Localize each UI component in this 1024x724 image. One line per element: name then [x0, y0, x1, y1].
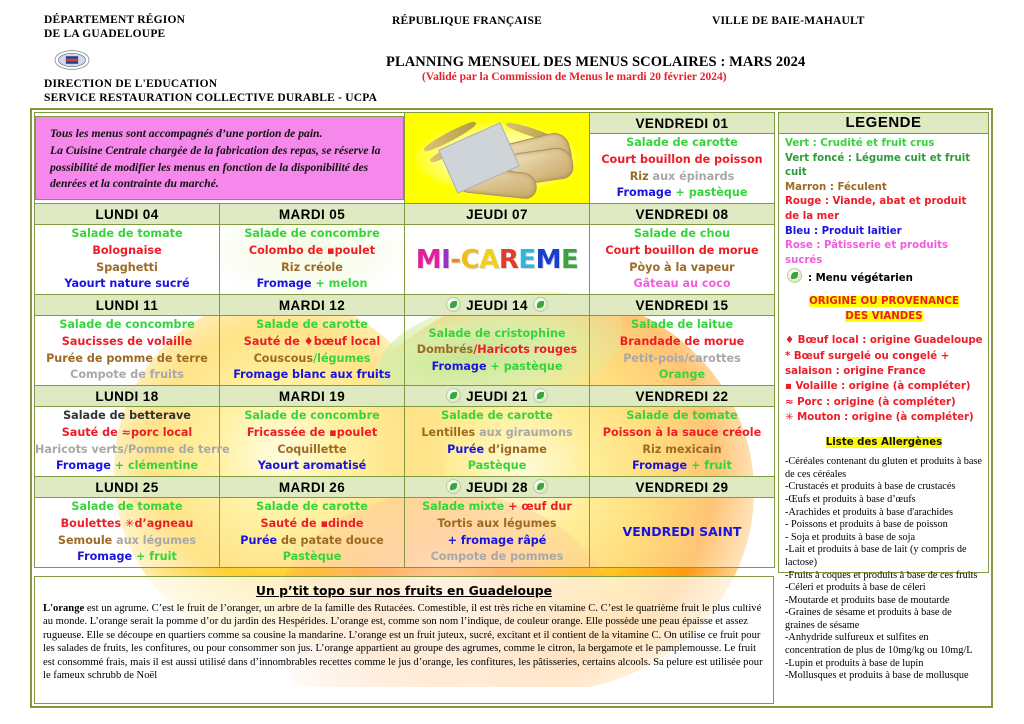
legend-row-label: Rose : Pâtisserie et produits sucrés	[785, 240, 948, 266]
menu-item: Purée de pomme de terre	[35, 351, 219, 368]
menu-item: Salade de carotte	[590, 135, 774, 152]
menu-item: Boulettes ✳d’agneau	[35, 516, 219, 533]
legend-row-label: Vert foncé : Légume cuit et fruit cuit	[785, 153, 970, 179]
meat-origin-row: ▪ Volaille : origine (à compléter)	[785, 379, 983, 394]
menu-cell-lundi-18: Salade de betteraveSauté de ≈porc localH…	[35, 407, 220, 477]
menu-item: Salade de cristophine	[405, 326, 589, 343]
menu-item: Brandade de morue	[590, 334, 774, 351]
day-header-mardi-05: MARDI 05	[220, 204, 405, 225]
allergen-row: - Soja et produits à base de soja	[785, 532, 983, 545]
header-direction-block: DIRECTION DE L'EDUCATION SERVICE RESTAUR…	[44, 78, 377, 105]
menu-cell-lundi-04: Salade de tomateBolognaiseSpaghettiYaour…	[35, 225, 220, 295]
mi-careme-letter: M	[416, 245, 441, 275]
vegetarian-icon	[533, 388, 548, 403]
header-city: VILLE DE BAIE-MAHAULT	[712, 15, 865, 27]
vendredi-saint-label: VENDREDI SAINT	[590, 524, 774, 541]
vegetarian-icon	[533, 297, 548, 312]
mi-careme-letter: R	[499, 245, 519, 275]
menu-item: Compote de pommes	[405, 549, 589, 566]
menu-item: Riz mexicain	[590, 442, 774, 459]
allergens-list: -Céréales contenant du gluten et produit…	[785, 456, 983, 683]
mi-careme-banner: MI-CAREME	[405, 245, 589, 275]
menu-item: Sauté de ♦bœuf local	[220, 334, 404, 351]
topo-body: L'orange est un agrume. C’est le fruit d…	[35, 598, 773, 682]
topo-text: est un agrume. C’est le fruit de l’orang…	[43, 603, 763, 681]
menu-item: Saucisses de volaille	[35, 334, 219, 351]
menu-item: Salade de betterave	[35, 408, 219, 425]
allergen-row: - Poissons et produits à base de poisson	[785, 519, 983, 532]
vegetarian-icon	[446, 479, 461, 494]
topo-panel: Un p’tit topo sur nos fruits en Guadelou…	[34, 576, 774, 704]
menu-cell-jeudi-14: Salade de cristophineDombrés/Haricots ro…	[405, 316, 590, 386]
allergen-row: -Fruits à coques et produits à base de c…	[785, 570, 983, 583]
menu-item: Fromage blanc aux fruits	[220, 367, 404, 384]
day-header-jeudi-07: JEUDI 07	[405, 204, 590, 225]
allergen-row: -Mollusques et produits à base de mollus…	[785, 670, 983, 683]
allergen-row: -Œufs et produits à base d’œufs	[785, 494, 983, 507]
menu-item: Fricassée de ▪poulet	[220, 425, 404, 442]
page-title: PLANNING MENSUEL DES MENUS SCOLAIRES : M…	[386, 54, 805, 71]
mi-careme-letter: C	[461, 245, 480, 275]
menu-item: Purée de patate douce	[220, 533, 404, 550]
menu-item: Salade de tomate	[35, 499, 219, 516]
menu-item: Spaghetti	[35, 260, 219, 277]
menu-cell-jeudi-28: Salade mixte + œuf durTortis aux légumes…	[405, 498, 590, 568]
menu-item: + fromage râpé	[405, 533, 589, 550]
meat-origin-row: ≈ Porc : origine (à compléter)	[785, 395, 983, 410]
mi-careme-letter: I	[441, 245, 450, 275]
menu-item: Salade de concombre	[35, 317, 219, 334]
day-header-vendredi-22: VENDREDI 22	[590, 386, 775, 407]
menu-item: Colombo de ▪poulet	[220, 243, 404, 260]
allergen-row: -Moutarde et produits base de moutarde	[785, 595, 983, 608]
legend-row-label: Rouge : Viande, abat et produit de la me…	[785, 196, 966, 222]
day-header-lundi-18: LUNDI 18	[35, 386, 220, 407]
menu-item: Coquillette	[220, 442, 404, 459]
header-republic: RÉPUBLIQUE FRANÇAISE	[392, 15, 542, 27]
guadeloupe-logo-icon	[54, 50, 90, 70]
mi-careme-letter: -	[450, 245, 460, 275]
menu-cell-mardi-26: Salade de carotteSauté de ▪dindePurée de…	[220, 498, 405, 568]
menu-cell-jeudi-07: MI-CAREME	[405, 225, 590, 295]
menu-item: Fromage + pastèque	[590, 185, 774, 202]
vegetarian-icon	[446, 297, 461, 312]
menu-item: Sauté de ▪dinde	[220, 516, 404, 533]
menu-item: Fromage + fruit	[590, 458, 774, 475]
allergen-row: -Arachides et produits à base d'arachide…	[785, 507, 983, 520]
meat-origin-title-line2: DES VIANDES	[845, 311, 922, 322]
header-department-line1: DÉPARTEMENT RÉGION	[44, 14, 185, 28]
menu-item: Fromage + fruit	[35, 549, 219, 566]
menu-cell-lundi-25: Salade de tomateBoulettes ✳d’agneauSemou…	[35, 498, 220, 568]
menu-item: Purée d’igname	[405, 442, 589, 459]
menu-cell-vendredi-08: Salade de chouCourt bouillon de moruePòy…	[590, 225, 775, 295]
menu-item: Pastèque	[220, 549, 404, 566]
day-header-jeudi-28: JEUDI 28	[405, 477, 590, 498]
meat-origin-title: ORIGINE OU PROVENANCE DES VIANDES	[785, 295, 983, 324]
meat-origin-title-line1: ORIGINE OU PROVENANCE	[809, 296, 959, 307]
menu-item: Sauté de ≈porc local	[35, 425, 219, 442]
legend-row-label: Vert : Crudité et fruit crus	[785, 138, 934, 149]
info-box-line: possibilité de modifier les menus en fon…	[50, 160, 391, 177]
day-header-jeudi-14: JEUDI 14	[405, 295, 590, 316]
menu-item: Riz aux épinards	[590, 169, 774, 186]
menu-cell-jeudi-21: Salade de carotteLentilles aux giraumons…	[405, 407, 590, 477]
legend-row: : Menu végétarien	[785, 268, 983, 287]
menu-item: Compote de fruits	[35, 367, 219, 384]
menu-item: Court bouillon de poisson	[590, 152, 774, 169]
menu-item: Salade de concombre	[220, 408, 404, 425]
menu-item: Tortis aux légumes	[405, 516, 589, 533]
menu-item: Pastèque	[405, 458, 589, 475]
legend-row: Marron : Féculent	[785, 181, 983, 196]
menu-cell-vendredi-15: Salade de laitueBrandade de moruePetit-p…	[590, 316, 775, 386]
menu-cell-lundi-11: Salade de concombreSaucisses de volaille…	[35, 316, 220, 386]
menu-item: Fromage + pastèque	[405, 359, 589, 376]
allergen-row: -Lupin et produits à base de lupin	[785, 658, 983, 671]
day-label: JEUDI 21	[466, 389, 528, 404]
legend-body: Vert : Crudité et fruit crusVert foncé :…	[779, 134, 988, 683]
allergen-row: -Lait et produits à base de lait (y comp…	[785, 544, 983, 569]
day-header-jeudi-21: JEUDI 21	[405, 386, 590, 407]
meat-origin-row: ♦ Bœuf local : origine Guadeloupe	[785, 333, 983, 348]
menu-cell-vendredi-01: Salade de carotteCourt bouillon de poiss…	[590, 134, 775, 204]
vegetarian-icon	[787, 268, 802, 283]
legend-row: Bleu : Produit laitier	[785, 225, 983, 240]
menu-item: Poisson à la sauce créole	[590, 425, 774, 442]
allergens-title: Liste des Allergènes	[826, 437, 942, 448]
header-direction-line2: SERVICE RESTAURATION COLLECTIVE DURABLE …	[44, 92, 377, 106]
day-label: JEUDI 28	[466, 480, 528, 495]
topo-lead: L'orange	[43, 603, 84, 614]
menu-item: Salade mixte + œuf dur	[405, 499, 589, 516]
header-left-block: DÉPARTEMENT RÉGION DE LA GUADELOUPE	[44, 14, 185, 41]
day-header-vendredi-08: VENDREDI 08	[590, 204, 775, 225]
day-header-mardi-19: MARDI 19	[220, 386, 405, 407]
meat-origin-row: ✳ Mouton : origine (à compléter)	[785, 410, 983, 425]
menu-item: Salade de laitue	[590, 317, 774, 334]
menu-item: Salade de tomate	[35, 226, 219, 243]
allergen-row: -Céleri et produits à base de céleri	[785, 582, 983, 595]
menu-item: Fromage + melon	[220, 276, 404, 293]
allergen-row: -Anhydride sulfureux et sulfites en conc…	[785, 632, 983, 657]
allergens-title-wrap: Liste des Allergènes	[785, 436, 983, 451]
menu-cell-mardi-19: Salade de concombreFricassée de ▪pouletC…	[220, 407, 405, 477]
menu-cell-mardi-05: Salade de concombreColombo de ▪pouletRiz…	[220, 225, 405, 295]
bread-image	[405, 113, 590, 204]
menu-item: Petit-pois/carottes	[590, 351, 774, 368]
document-header: DÉPARTEMENT RÉGION DE LA GUADELOUPE RÉPU…	[0, 0, 1024, 104]
vegetarian-icon	[533, 479, 548, 494]
menu-item: Yaourt nature sucré	[35, 276, 219, 293]
menu-item: Salade de concombre	[220, 226, 404, 243]
mi-careme-letter: M	[536, 245, 561, 275]
vegetarian-icon	[446, 388, 461, 403]
menu-grid-area: Tous les menus sont accompagnés d’une po…	[34, 112, 774, 572]
legend-panel: LEGENDE Vert : Crudité et fruit crusVert…	[778, 112, 989, 573]
day-header-lundi-11: LUNDI 11	[35, 295, 220, 316]
day-header-mardi-26: MARDI 26	[220, 477, 405, 498]
menu-item: Gâteau au coco	[590, 276, 774, 293]
menu-item: Court bouillon de morue	[590, 243, 774, 260]
menu-table: Tous les menus sont accompagnés d’une po…	[34, 112, 775, 568]
mi-careme-letter: E	[561, 245, 578, 275]
menu-cell-mardi-12: Salade de carotteSauté de ♦bœuf localCou…	[220, 316, 405, 386]
mi-careme-letter: E	[518, 245, 535, 275]
info-box-line: Tous les menus sont accompagnés d’une po…	[50, 126, 391, 143]
menu-item: Salade de carotte	[405, 408, 589, 425]
day-label: JEUDI 14	[466, 298, 528, 313]
menu-item: Pòyo à la vapeur	[590, 260, 774, 277]
legend-row: Vert : Crudité et fruit crus	[785, 137, 983, 152]
allergen-row: -Crustacés et produits à base de crustac…	[785, 481, 983, 494]
mi-careme-letter: A	[479, 245, 499, 275]
menu-item: Salade de tomate	[590, 408, 774, 425]
menu-item: Lentilles aux giraumons	[405, 425, 589, 442]
info-box-line: La Cuisine Centrale chargée de la fabric…	[50, 143, 391, 160]
day-header-mardi-12: MARDI 12	[220, 295, 405, 316]
menu-cell-vendredi-22: Salade de tomatePoisson à la sauce créol…	[590, 407, 775, 477]
legend-row: Vert foncé : Légume cuit et fruit cuit	[785, 152, 983, 181]
day-header-vendredi-15: VENDREDI 15	[590, 295, 775, 316]
allergen-row: -Céréales contenant du gluten et produit…	[785, 456, 983, 481]
meat-origin-list: ♦ Bœuf local : origine Guadeloupe* Bœuf …	[785, 333, 983, 425]
menu-item: Semoule aux légumes	[35, 533, 219, 550]
menu-item: Orange	[590, 367, 774, 384]
menu-item: Fromage + clémentine	[35, 458, 219, 475]
menu-item: Bolognaise	[35, 243, 219, 260]
menu-item: Dombrés/Haricots rouges	[405, 342, 589, 359]
menu-item: Yaourt aromatisé	[220, 458, 404, 475]
day-header-lundi-25: LUNDI 25	[35, 477, 220, 498]
page-subtitle: (Validé par la Commission de Menus le ma…	[422, 71, 727, 83]
legend-row: Rouge : Viande, abat et produit de la me…	[785, 195, 983, 224]
menu-item: Couscous/légumes	[220, 351, 404, 368]
menu-item: Salade de carotte	[220, 317, 404, 334]
header-direction-line1: DIRECTION DE L'EDUCATION	[44, 78, 377, 92]
meat-origin-row: * Bœuf surgelé ou congelé + salaison : o…	[785, 349, 983, 380]
day-header-lundi-04: LUNDI 04	[35, 204, 220, 225]
legend-title: LEGENDE	[779, 113, 988, 134]
menu-item: Salade de carotte	[220, 499, 404, 516]
menu-cell-vendredi-29: VENDREDI SAINT	[590, 498, 775, 568]
menu-item: Riz créole	[220, 260, 404, 277]
topo-title: Un p’tit topo sur nos fruits en Guadelou…	[35, 577, 773, 598]
legend-row: Rose : Pâtisserie et produits sucrés	[785, 239, 983, 268]
info-box: Tous les menus sont accompagnés d’une po…	[35, 113, 405, 204]
info-box-line: denrées et la contrainte du marché.	[50, 176, 391, 193]
allergen-row: -Graines de sésame et produits à base de…	[785, 607, 983, 632]
menu-item: Salade de chou	[590, 226, 774, 243]
legend-row-label: Bleu : Produit laitier	[785, 226, 902, 237]
legend-row-label: Marron : Féculent	[785, 182, 887, 193]
legend-row-label: : Menu végétarien	[808, 273, 913, 284]
day-header-vendredi-29: VENDREDI 29	[590, 477, 775, 498]
day-header-vendredi-01: VENDREDI 01	[590, 113, 775, 134]
header-department-line2: DE LA GUADELOUPE	[44, 28, 185, 42]
menu-item: Haricots verts/Pomme de terre	[35, 442, 219, 459]
